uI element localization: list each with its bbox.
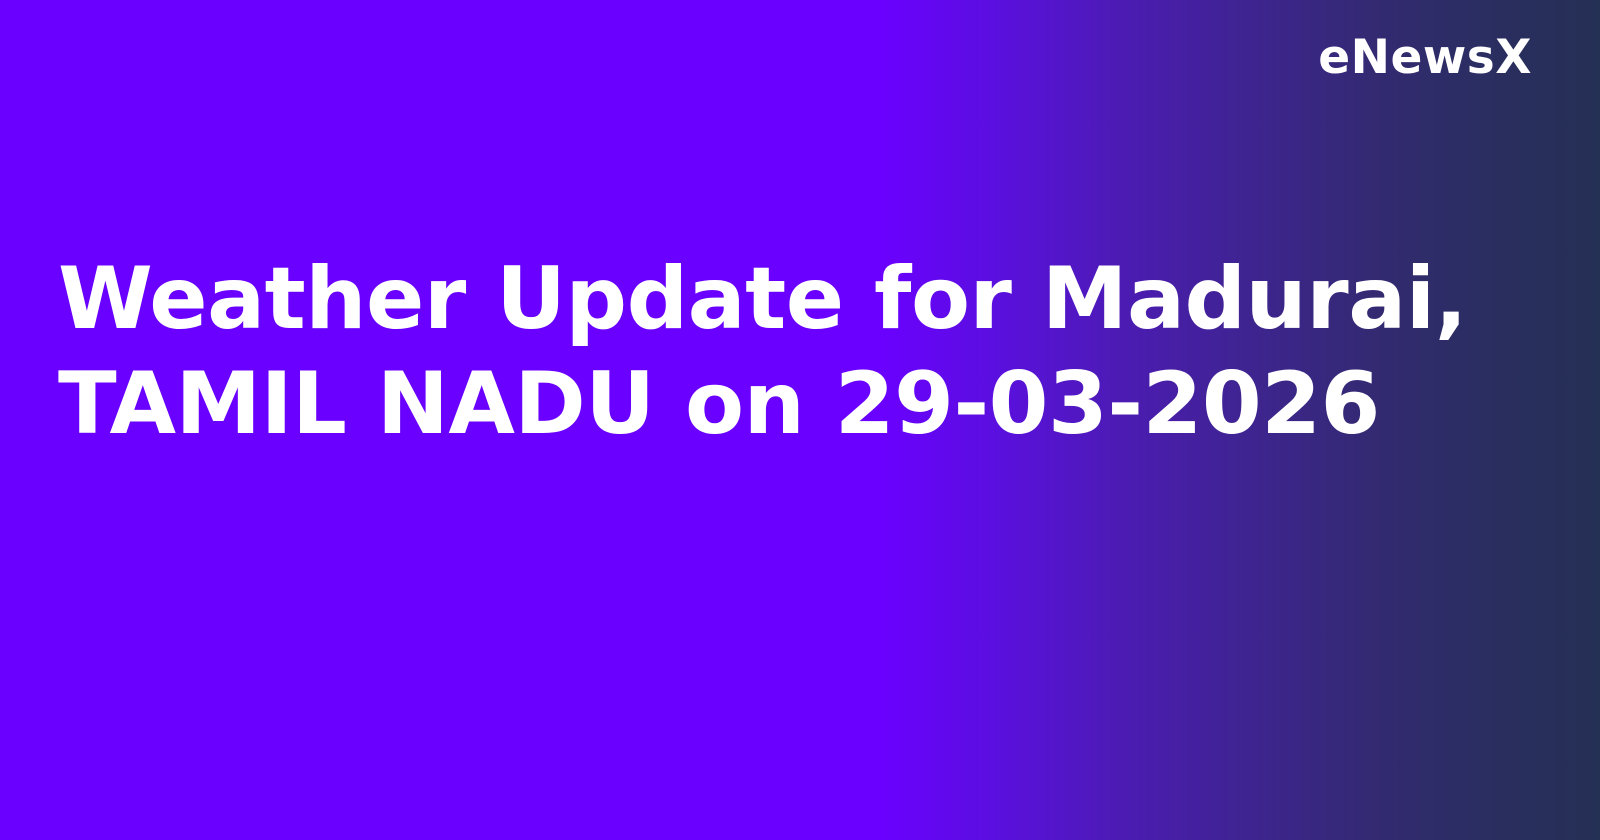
news-banner-card: eNewsX Weather Update for Madurai, TAMIL… xyxy=(0,0,1600,840)
page-title: Weather Update for Madurai, TAMIL NADU o… xyxy=(58,247,1468,457)
headline-container: Weather Update for Madurai, TAMIL NADU o… xyxy=(58,247,1468,457)
brand-logo[interactable]: eNewsX xyxy=(1318,33,1532,82)
